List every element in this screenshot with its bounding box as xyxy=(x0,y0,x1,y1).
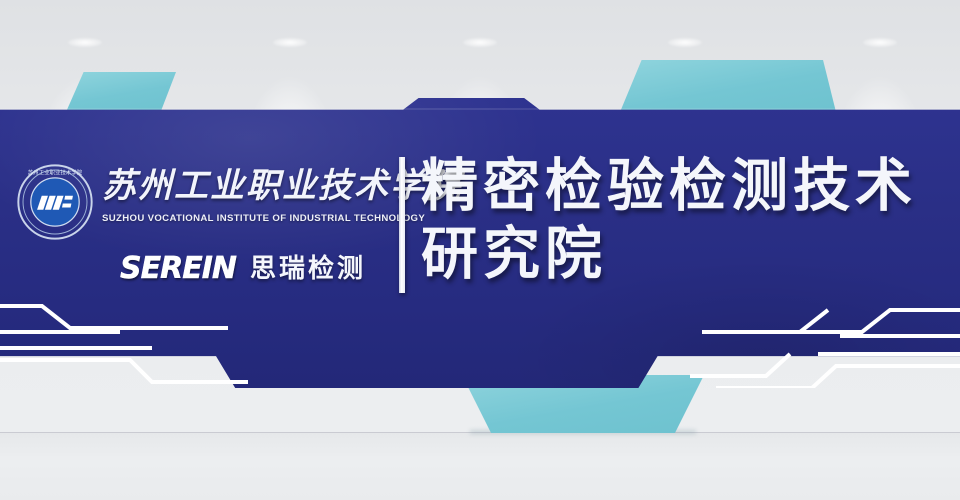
institution-logo-block: 苏州工业职业技术学院 苏州工业职业技术学院 SUZHOU VOCATIONAL … xyxy=(16,160,396,290)
ceiling-spotlight xyxy=(273,38,307,47)
floor xyxy=(0,432,960,500)
ceiling-spotlight xyxy=(668,38,702,47)
headline-line-2: 研究院 xyxy=(421,220,951,288)
partner-logo-row: SEREIN 思瑞检测 xyxy=(120,252,366,286)
serein-wordmark: SEREIN xyxy=(120,252,236,286)
university-name-cn: 苏州工业职业技术学院 xyxy=(102,166,462,206)
ceiling-spotlight xyxy=(463,38,497,47)
signage-scene: 苏州工业职业技术学院 苏州工业职业技术学院 SUZHOU VOCATIONAL … xyxy=(0,0,960,500)
vertical-divider xyxy=(399,157,405,293)
teal-trapezoid-top-left xyxy=(66,72,176,112)
university-name-en: SUZHOU VOCATIONAL INSTITUTE OF INDUSTRIA… xyxy=(102,213,425,225)
siit-crest-icon: 苏州工业职业技术学院 xyxy=(16,163,94,241)
ceiling-spotlight xyxy=(863,38,897,47)
page-title: 精密检验检测技术 研究院 xyxy=(421,152,951,288)
serein-name-cn: 思瑞检测 xyxy=(250,254,366,284)
headline-line-1: 精密检验检测技术 xyxy=(421,152,951,220)
teal-trapezoid-top-right xyxy=(620,60,836,112)
ceiling-spotlight xyxy=(68,38,102,47)
